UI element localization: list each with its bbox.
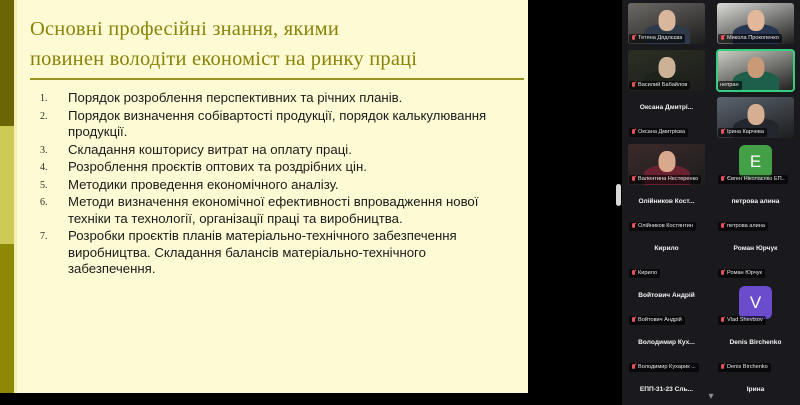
participant-tile[interactable]: Тетяна Дядлєєва	[622, 0, 711, 47]
participant-tile[interactable]: Ірина Карчева	[711, 94, 800, 141]
slide-list-item: 7.Розробки проєктів планів матеріально-т…	[30, 228, 512, 278]
participant-tile[interactable]: Володимир Кух...Володимир Кухарик ...	[622, 329, 711, 376]
microphone-muted-icon	[631, 270, 636, 277]
participant-name-label: Vlad Shevtsov	[727, 317, 763, 324]
slide-list-item-number: 1.	[40, 91, 48, 108]
participant-name-label: Микола Прокопенко	[727, 35, 779, 42]
screen-share-stage[interactable]: Основні професійні знання, якими повинен…	[0, 0, 622, 405]
participant-nameplate: Володимир Кухарик ...	[629, 363, 699, 372]
participant-tile[interactable]: Валентина Нестеренко	[622, 141, 711, 188]
participant-name-label: Denis Birchenko	[727, 364, 768, 371]
participant-nameplate: Кирило	[629, 269, 660, 278]
participant-tile[interactable]: Василий Бабайлов	[622, 47, 711, 94]
participant-nameplate: Тетяна Дядлєєва	[629, 34, 685, 43]
microphone-muted-icon	[720, 35, 725, 42]
participant-name-label: Роман Юрчук	[727, 270, 762, 277]
slide-letterbox-right	[528, 0, 622, 405]
slide-list-item-number: 3.	[40, 143, 48, 160]
participant-tile[interactable]: Роман ЮрчукРоман Юрчук	[711, 235, 800, 282]
participant-name-label: Олійников Костянтин	[638, 223, 693, 230]
slide-list-item-number: 5.	[40, 178, 48, 195]
slide-list-item-number: 7.	[40, 229, 48, 246]
participants-panel[interactable]: Тетяна ДядлєєваМикола ПрокопенкоВасилий …	[622, 0, 800, 405]
participant-name-label: Євген Ніколаєнко ЕП..	[727, 176, 785, 183]
participant-tile[interactable]: петрова алинапетрова алина	[711, 188, 800, 235]
slide-list-item-text: Порядок розроблення перспективних та річ…	[68, 90, 402, 105]
slide-list-item: 2.Порядок визначення собівартості продук…	[30, 108, 512, 141]
slide-decorative-bar	[0, 0, 16, 393]
participant-display-name: Кирило	[622, 245, 711, 252]
participant-avatar: E	[739, 145, 772, 178]
meeting-screen: Основні професійні знання, якими повинен…	[0, 0, 800, 405]
participant-display-name: Володимир Кух...	[622, 339, 711, 346]
participant-display-name: Олійников Кост...	[622, 198, 711, 205]
slide-list-item-number: 2.	[40, 109, 48, 126]
participant-avatar: V	[739, 286, 772, 319]
participant-display-name: Denis Birchenko	[711, 339, 800, 346]
participant-nameplate: Vlad Shevtsov	[718, 316, 766, 325]
slide-list-item-text: Методи визначення економічної ефективнос…	[68, 194, 478, 226]
microphone-muted-icon	[720, 364, 725, 371]
title-underline	[30, 78, 524, 80]
participant-nameplate: Олійников Костянтин	[629, 222, 696, 231]
participant-display-name: Оксана Дмитрі...	[622, 104, 711, 111]
participant-name-label: Тетяна Дядлєєва	[638, 35, 682, 42]
slide-list-item-number: 4.	[40, 160, 48, 177]
slide-list-item-text: Порядок визначення собівартості продукці…	[68, 108, 486, 140]
microphone-muted-icon	[631, 223, 636, 230]
participant-name-label: петрова алина	[727, 223, 765, 230]
chevron-down-icon[interactable]: ▾	[622, 389, 800, 403]
slide-list-item-text: Складання кошторису витрат на оплату пра…	[68, 142, 352, 157]
participant-nameplate: Войтович Андрій	[629, 316, 685, 325]
microphone-muted-icon	[631, 35, 636, 42]
slide-list-item: 1.Порядок розроблення перспективних та р…	[30, 90, 512, 107]
participant-display-name: петрова алина	[711, 198, 800, 205]
participant-tile[interactable]: КирилоКирило	[622, 235, 711, 282]
participant-name-label: Кирило	[638, 270, 657, 277]
participant-tile[interactable]: EЄвген Ніколаєнко ЕП..	[711, 141, 800, 188]
participant-nameplate: Роман Юрчук	[718, 269, 765, 278]
presentation-slide: Основні професійні знання, якими повинен…	[0, 0, 528, 393]
slide-list-item: 3.Складання кошторису витрат на оплату п…	[30, 142, 512, 159]
participant-display-name: Роман Юрчук	[711, 245, 800, 252]
slide-list-item: 5.Методики проведення економічного аналі…	[30, 177, 512, 194]
microphone-muted-icon	[631, 129, 636, 136]
participant-display-name: Войтович Андрій	[622, 292, 711, 299]
microphone-muted-icon	[720, 270, 725, 277]
participant-name-label: Валентина Нестеренко	[638, 176, 698, 183]
participant-name-label: Ірина Карчева	[727, 129, 764, 136]
participant-nameplate: Ірина Карчева	[718, 128, 767, 137]
microphone-muted-icon	[720, 129, 725, 136]
participant-tile[interactable]: непран	[711, 47, 800, 94]
participant-name-label: непран	[720, 82, 739, 89]
participant-nameplate: Оксана Дмитрієва	[629, 128, 688, 137]
microphone-muted-icon	[720, 223, 725, 230]
panel-resize-handle[interactable]	[616, 184, 621, 206]
microphone-muted-icon	[631, 176, 636, 183]
participant-nameplate: петрова алина	[718, 222, 768, 231]
participant-nameplate: непран	[718, 81, 742, 90]
slide-list-item-number: 6.	[40, 195, 48, 212]
participant-name-label: Володимир Кухарик ...	[638, 364, 696, 371]
participant-nameplate: Микола Прокопенко	[718, 34, 782, 43]
slide-list-item: 4.Розроблення проєктів оптових та роздрі…	[30, 159, 512, 176]
slide-numbered-list: 1.Порядок розроблення перспективних та р…	[22, 90, 518, 278]
microphone-muted-icon	[631, 317, 636, 324]
slide-list-item-text: Методики проведення економічного аналізу…	[68, 177, 339, 192]
slide-list-item-text: Розроблення проєктів оптових та роздрібн…	[68, 159, 367, 174]
participant-nameplate: Євген Ніколаєнко ЕП..	[718, 175, 788, 184]
participant-tile[interactable]: Микола Прокопенко	[711, 0, 800, 47]
participant-name-label: Оксана Дмитрієва	[638, 129, 685, 136]
microphone-muted-icon	[720, 317, 725, 324]
participant-tile[interactable]: Олійников Кост...Олійников Костянтин	[622, 188, 711, 235]
participant-tile[interactable]: VVlad Shevtsov	[711, 282, 800, 329]
slide-list-item: 6.Методи визначення економічної ефективн…	[30, 194, 512, 227]
participant-tile[interactable]: Войтович АндрійВойтович Андрій	[622, 282, 711, 329]
microphone-muted-icon	[720, 176, 725, 183]
participant-name-label: Войтович Андрій	[638, 317, 682, 324]
slide-bar-highlight	[14, 0, 17, 393]
participant-nameplate: Denis Birchenko	[718, 363, 771, 372]
participant-tile[interactable]: Оксана Дмитрі...Оксана Дмитрієва	[622, 94, 711, 141]
participant-nameplate: Валентина Нестеренко	[629, 175, 701, 184]
microphone-muted-icon	[631, 364, 636, 371]
slide-letterbox-bottom	[0, 393, 528, 405]
participant-tile[interactable]: Denis BirchenkoDenis Birchenko	[711, 329, 800, 376]
microphone-muted-icon	[631, 82, 636, 89]
slide-list-item-text: Розробки проєктів планів матеріально-тех…	[68, 228, 457, 276]
participant-nameplate: Василий Бабайлов	[629, 81, 690, 90]
slide-title: Основні професійні знання, якими повинен…	[22, 0, 518, 74]
participant-name-label: Василий Бабайлов	[638, 82, 687, 89]
